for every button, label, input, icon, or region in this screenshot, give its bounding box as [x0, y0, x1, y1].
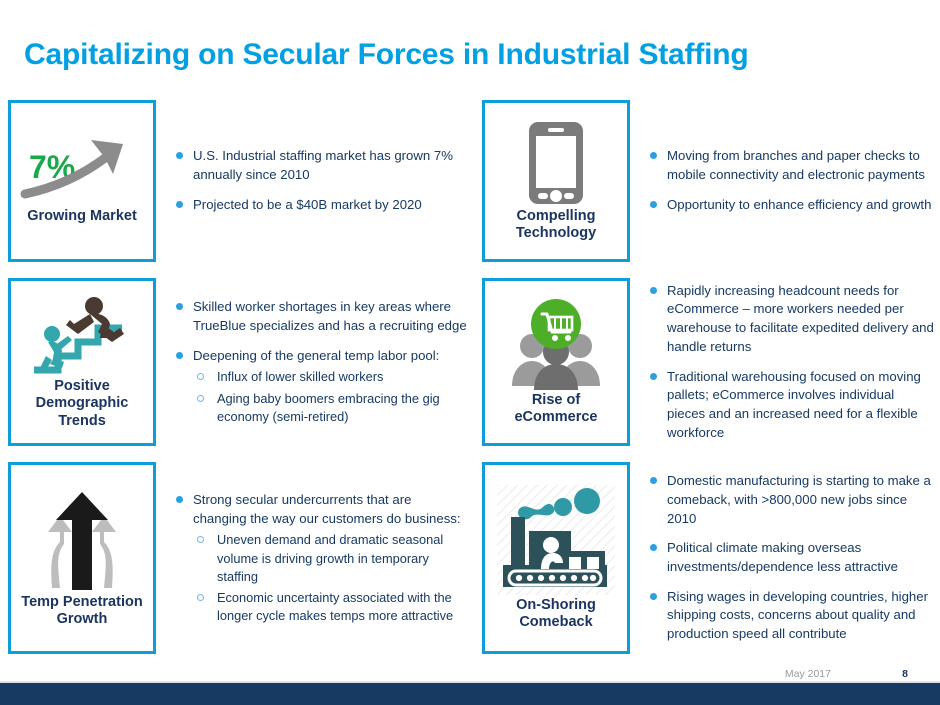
shopping-cart-people-icon: [508, 298, 604, 390]
page-title: Capitalizing on Secular Forces in Indust…: [24, 38, 749, 72]
list-item: Deepening of the general temp labor pool…: [174, 347, 468, 426]
list-item: Moving from branches and paper checks to…: [648, 147, 934, 184]
card-positive-demographic-trends[interactable]: Positive Demographic Trends: [8, 278, 156, 446]
list-item: U.S. Industrial staffing market has grow…: [174, 147, 468, 184]
footer-bar: [0, 683, 940, 705]
smartphone-icon: [527, 120, 585, 206]
card-label: Compelling Technology: [485, 208, 627, 242]
list-item: Rising wages in developing countries, hi…: [648, 588, 934, 644]
panel-positive-demographic-trends: Positive Demographic Trends Skilled work…: [8, 278, 468, 446]
people-stairs-icon: [28, 294, 136, 376]
bullet-text: Rapidly increasing headcount needs for e…: [667, 282, 934, 357]
bullet-list-growing-market: U.S. Industrial staffing market has grow…: [174, 100, 468, 262]
card-label: Growing Market: [23, 208, 141, 225]
card-on-shoring-comeback[interactable]: On-Shoring Comeback: [482, 462, 630, 654]
bullet-list-compelling-technology: Moving from branches and paper checks to…: [648, 100, 934, 262]
panel-growing-market: 7% Growing Market U.S. Industrial staffi…: [8, 100, 468, 262]
sub-list-item: Economic uncertainty associated with the…: [193, 589, 468, 625]
panel-on-shoring-comeback: On-Shoring Comeback Domestic manufacturi…: [482, 462, 934, 654]
bullet-text: Deepening of the general temp labor pool…: [193, 347, 468, 366]
card-label: Rise of eCommerce: [485, 392, 627, 426]
list-item: Projected to be a $40B market by 2020: [174, 196, 468, 215]
bullet-text: Projected to be a $40B market by 2020: [193, 196, 468, 215]
list-item: Domestic manufacturing is starting to ma…: [648, 472, 934, 528]
bullet-text: Political climate making overseas invest…: [667, 539, 934, 576]
panel-compelling-technology: Compelling Technology Moving from branch…: [482, 100, 934, 262]
slide: Capitalizing on Secular Forces in Indust…: [0, 0, 940, 705]
card-compelling-technology[interactable]: Compelling Technology: [482, 100, 630, 262]
content-row-2: Positive Demographic Trends Skilled work…: [8, 278, 934, 446]
list-item: Strong secular undercurrents that are ch…: [174, 491, 468, 625]
list-item: Rapidly increasing headcount needs for e…: [648, 282, 934, 357]
list-item: Skilled worker shortages in key areas wh…: [174, 298, 468, 335]
content-row-3: Temp Penetration Growth Strong secular u…: [8, 462, 934, 654]
footer-date: May 2017: [785, 668, 831, 680]
page-number: 8: [902, 668, 908, 680]
sub-list-item: Uneven demand and dramatic seasonal volu…: [193, 531, 468, 585]
bullet-list-on-shoring-comeback: Domestic manufacturing is starting to ma…: [648, 462, 934, 654]
panel-temp-penetration-growth: Temp Penetration Growth Strong secular u…: [8, 462, 468, 654]
bullet-text: Skilled worker shortages in key areas wh…: [193, 298, 468, 335]
bullet-text: Strong secular undercurrents that are ch…: [193, 491, 468, 528]
list-item: Political climate making overseas invest…: [648, 539, 934, 576]
three-up-arrows-icon: [30, 488, 134, 592]
card-label: On-Shoring Comeback: [485, 597, 627, 631]
bullet-text: Traditional warehousing focused on movin…: [667, 368, 934, 443]
card-label: Positive Demographic Trends: [11, 378, 153, 429]
list-item: Opportunity to enhance efficiency and gr…: [648, 196, 934, 215]
content-row-1: 7% Growing Market U.S. Industrial staffi…: [8, 100, 934, 262]
bullet-list-rise-of-ecommerce: Rapidly increasing headcount needs for e…: [648, 278, 934, 446]
bullet-text: Rising wages in developing countries, hi…: [667, 588, 934, 644]
bullet-text: Domestic manufacturing is starting to ma…: [667, 472, 934, 528]
growth-arrow-icon: 7%: [19, 136, 145, 206]
bullet-text: U.S. Industrial staffing market has grow…: [193, 147, 468, 184]
sub-list-item: Influx of lower skilled workers: [193, 368, 468, 386]
card-growing-market[interactable]: 7% Growing Market: [8, 100, 156, 262]
bullet-text: Moving from branches and paper checks to…: [667, 147, 934, 184]
factory-conveyor-icon: [497, 485, 615, 595]
panel-rise-of-ecommerce: Rise of eCommerce Rapidly increasing hea…: [482, 278, 934, 446]
card-label: Temp Penetration Growth: [11, 594, 153, 628]
card-temp-penetration-growth[interactable]: Temp Penetration Growth: [8, 462, 156, 654]
bullet-text: Opportunity to enhance efficiency and gr…: [667, 196, 934, 215]
list-item: Traditional warehousing focused on movin…: [648, 368, 934, 443]
card-rise-of-ecommerce[interactable]: Rise of eCommerce: [482, 278, 630, 446]
bullet-list-positive-demographic-trends: Skilled worker shortages in key areas wh…: [174, 278, 468, 446]
bullet-list-temp-penetration-growth: Strong secular undercurrents that are ch…: [174, 462, 468, 654]
sub-list-item: Aging baby boomers embracing the gig eco…: [193, 390, 468, 426]
